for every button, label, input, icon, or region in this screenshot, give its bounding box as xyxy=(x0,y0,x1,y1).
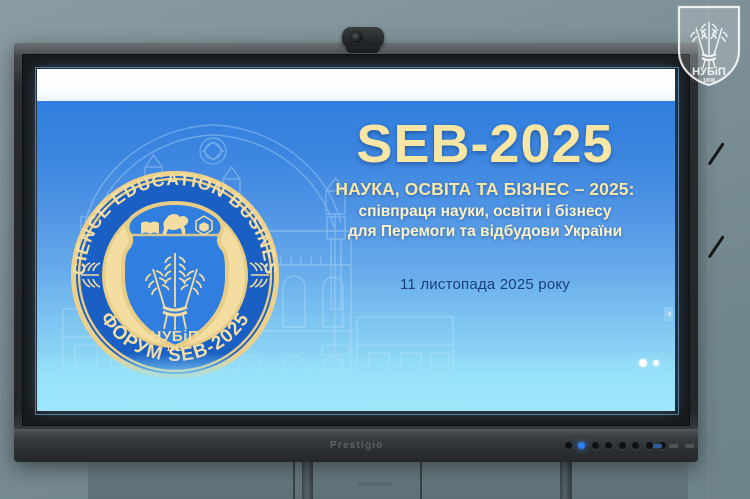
slide-subtitle-line1: співпраця науки, освіти і бізнесу xyxy=(305,202,665,222)
camera-lens-icon xyxy=(351,32,362,43)
usb-port[interactable] xyxy=(653,444,662,448)
hdmi-port[interactable] xyxy=(669,444,678,448)
slide-date: 11 листопада 2025 року xyxy=(305,276,665,293)
stand-panel xyxy=(88,462,688,499)
slide-subtitle-main: НАУКА, ОСВІТА ТА БІЗНЕС – 2025: xyxy=(305,179,665,199)
home-button[interactable] xyxy=(646,442,653,449)
nubip-watermark-logo: НУБіП 1898 xyxy=(676,4,742,88)
hdmi-port[interactable] xyxy=(685,444,694,448)
stand-divider xyxy=(420,462,422,499)
volume-down-button[interactable] xyxy=(619,442,626,449)
volume-up-button[interactable] xyxy=(632,442,639,449)
monitor-button-row[interactable] xyxy=(565,442,667,449)
brand-logo: Prestigio xyxy=(330,440,384,451)
power-button[interactable] xyxy=(565,442,572,449)
slide-title: SEB-2025 xyxy=(305,117,665,171)
room-scene: SCIENCE EDUCATION BUSINESS ФОРУМ SEB-202… xyxy=(0,0,750,499)
shield-year-text: 1898 xyxy=(166,346,183,353)
presentation-slide[interactable]: SCIENCE EDUCATION BUSINESS ФОРУМ SEB-202… xyxy=(37,101,675,411)
presentation-top-band xyxy=(37,69,675,101)
display-monitor[interactable]: SCIENCE EDUCATION BUSINESS ФОРУМ SEB-202… xyxy=(14,43,698,462)
microphone-icon xyxy=(370,34,376,40)
slide-prev-button[interactable] xyxy=(664,307,673,321)
book-icon xyxy=(141,222,159,235)
watermark-year-text: 1898 xyxy=(703,78,715,84)
slide-bottom-wash xyxy=(37,353,675,411)
slide-text-column: SEB-2025 НАУКА, ОСВІТА ТА БІЗНЕС – 2025:… xyxy=(305,117,665,293)
stand-crossbar xyxy=(358,482,392,486)
power-led-indicator xyxy=(578,442,585,449)
pagination-dot[interactable] xyxy=(653,360,659,366)
monitor-bezel: SCIENCE EDUCATION BUSINESS ФОРУМ SEB-202… xyxy=(22,54,690,426)
chevron-left-icon xyxy=(667,311,671,317)
display-stand xyxy=(0,462,750,499)
webcam-device[interactable] xyxy=(342,27,384,48)
monitor-port-row[interactable] xyxy=(653,444,694,448)
slide-subtitle-line2: для Перемоги та відбудови України xyxy=(305,222,665,242)
source-button[interactable] xyxy=(605,442,612,449)
pagination-dot-active[interactable] xyxy=(639,359,647,367)
slide-pagination[interactable] xyxy=(639,359,659,367)
stand-leg xyxy=(302,462,313,499)
monitor-bottom-bezel: Prestigio xyxy=(14,429,698,462)
webcam-clip xyxy=(346,46,380,53)
menu-button[interactable] xyxy=(592,442,599,449)
watermark-name-text: НУБіП xyxy=(692,66,726,78)
stand-divider xyxy=(293,462,295,499)
stand-leg xyxy=(560,462,571,499)
shield-name-text: НУБіП xyxy=(151,328,200,345)
screen[interactable]: SCIENCE EDUCATION BUSINESS ФОРУМ SEB-202… xyxy=(37,69,675,411)
